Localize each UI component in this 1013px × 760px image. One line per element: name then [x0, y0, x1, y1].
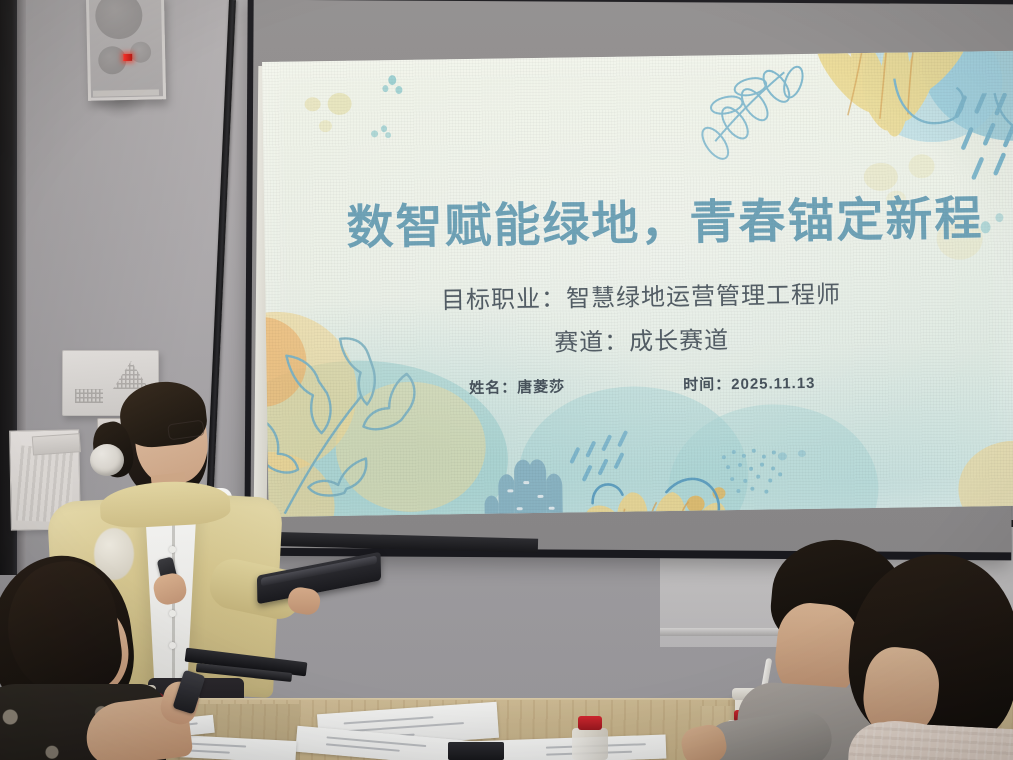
deco-dot-yellow-3 [319, 120, 332, 132]
deco-blob-yellow-right [958, 440, 1013, 517]
deco-dot-yellow-2 [327, 93, 351, 115]
deco-dot-yellow-lower-1 [686, 495, 704, 512]
slide-subtitle-track: 赛道：成长赛道 [266, 316, 1013, 362]
deco-dot-yellow-1 [305, 97, 321, 111]
speaker-driver-tweeter-icon [130, 41, 151, 62]
deco-blob-yellow-mid [335, 381, 487, 513]
presenter-jacket-hood [99, 479, 231, 530]
deco-ginkgo-flower-bottom-icon [558, 445, 849, 517]
speaker-power-led [123, 54, 132, 61]
presenter-shirt-button [169, 546, 176, 553]
water-bottle-center [572, 728, 608, 760]
bottle-cap-red [578, 716, 602, 730]
deco-dot-yellow-lower-2 [712, 487, 725, 499]
deco-blob-teal-bottom-center [517, 385, 750, 517]
slide-subtitle-target-job: 目标职业：智慧绿地运营管理工程师 [265, 272, 1013, 318]
screenshot-root: 数智赋能绿地，青春锚定新程 目标职业：智慧绿地运营管理工程师 赛道：成长赛道 姓… [0, 0, 1013, 760]
deco-speckles-icon [718, 446, 789, 497]
deco-dot-teal-lower-1 [778, 452, 787, 460]
deco-dot-teal-2 [382, 85, 388, 92]
deco-blob-cream-topright-2 [908, 154, 934, 178]
slide-presenter-name: 姓名：唐菱莎 [469, 376, 565, 398]
slide-meta-row: 姓名：唐菱莎 时间：2025.11.13 [267, 369, 1013, 401]
deco-blob-blue-top-right [921, 51, 1013, 142]
slide-date: 时间：2025.11.13 [683, 372, 816, 395]
deco-dot-teal-3 [395, 86, 402, 94]
seated-attendee-left [0, 556, 230, 760]
deco-curve-line-topright-icon [882, 70, 1013, 193]
deco-dot-teal-4 [381, 125, 387, 132]
deco-leaf-sprig-topleft-icon [692, 63, 844, 185]
speaker-shadow [95, 98, 147, 120]
deco-dot-teal-1 [388, 75, 396, 85]
deco-dot-teal-6 [385, 132, 391, 138]
deco-plant-blue-solid-icon [468, 432, 590, 517]
seated-attendees-right [752, 540, 1013, 760]
speaker-driver-small-icon [98, 46, 127, 75]
deco-flower-yellow-top-icon [786, 51, 988, 146]
wall-speaker [86, 0, 166, 101]
deco-dot-teal-lower-2 [798, 450, 806, 457]
presenter-hair-scrunchie [90, 444, 124, 476]
smartphone [172, 670, 205, 715]
black-device [448, 742, 504, 760]
speaker-bracket [93, 89, 159, 96]
speaker-driver-large-icon [95, 0, 143, 40]
projected-slide: 数智赋能绿地，青春锚定新程 目标职业：智慧绿地运营管理工程师 赛道：成长赛道 姓… [262, 51, 1013, 517]
deco-blob-teal-bottom-right [667, 403, 879, 517]
deco-blob-lightblue-top-right [861, 51, 1003, 143]
slide-title: 数智赋能绿地，青春锚定新程 [264, 179, 1013, 259]
deco-dashes-midleft-icon [567, 426, 648, 487]
deco-dot-teal-5 [371, 130, 378, 137]
